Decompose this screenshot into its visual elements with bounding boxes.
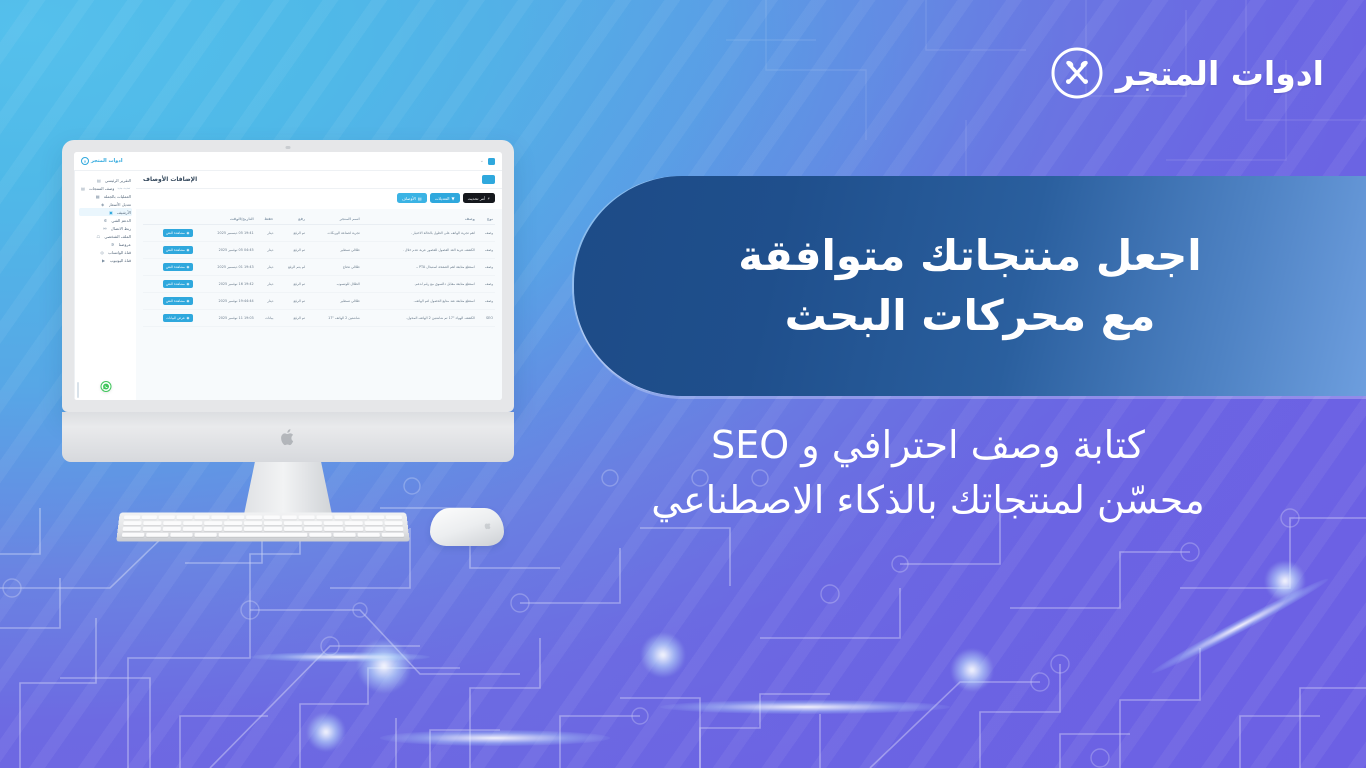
keyboard-key[interactable]: [219, 533, 308, 537]
keyboard-key[interactable]: [365, 527, 384, 531]
cell-description: استطع متابعة اهم الصفحة استبدال PTA ـ.: [362, 259, 477, 276]
keyboard-key[interactable]: [143, 527, 162, 531]
keyboard-key[interactable]: [304, 527, 322, 531]
link-icon: ⚯: [102, 225, 108, 231]
cell-store: طلالي تحتاج: [307, 259, 362, 276]
keyboard-key[interactable]: [246, 515, 262, 519]
keyboard-key[interactable]: [345, 527, 363, 531]
cell-description: الكشف عربة الغد الفصول للعصور عربة عدم خ…: [362, 242, 477, 259]
keyboard-key[interactable]: [299, 515, 315, 519]
keyboard-key[interactable]: [385, 527, 404, 531]
sidebar-item-label: تعديل الأسعار: [109, 202, 131, 207]
cell-action: ◉مشاهدة النص: [143, 225, 195, 242]
sidebar-item-label: ربط الاتصال: [111, 226, 131, 231]
action-button-update[interactable]: ⚡ أمر تحديث: [463, 193, 495, 203]
keyboard[interactable]: [116, 513, 410, 542]
sidebar-item-label: وصف المنتجات: [89, 186, 114, 191]
cell-date: 04:45 05 نوفمبر 2025: [195, 242, 256, 259]
keyboard-key[interactable]: [304, 521, 322, 525]
youtube-icon: ▶: [101, 257, 107, 263]
cell-type: وصف: [477, 293, 495, 310]
keyboard-key[interactable]: [204, 521, 222, 525]
cell-save: دينار: [256, 276, 276, 293]
dashboard-topbar: ⌄ ادوات المتجر ✕: [74, 152, 502, 171]
row-action-button[interactable]: ◉مشاهدة النص: [163, 297, 193, 305]
dashboard-brand-label: ادوات المتجر: [91, 158, 123, 164]
poster-canvas: ادوات المتجر اجعل منتجاتك متوافقة مع محر…: [0, 0, 1366, 768]
cell-date: 19:42 16 نوفمبر 2025: [195, 276, 256, 293]
keyboard-key[interactable]: [194, 515, 210, 519]
sidebar-item-10[interactable]: قناة اليوتيوب▶: [79, 256, 132, 264]
table-head: نوع وصف اسم المتجر رفع حفظ التاريخ/الوقت: [143, 214, 495, 225]
sidebar-item-2[interactable]: العمليات بالجملة▦: [79, 192, 132, 200]
sidebar-item-label: العمليات بالجملة: [104, 194, 131, 199]
row-action-label: عرض البيانات: [166, 316, 185, 320]
action-button-edits[interactable]: ▼ التعديلات: [430, 193, 460, 203]
table-row: وصفاهم تجربة الهاتف على الطول بالحالة ال…: [143, 225, 495, 242]
sidebar-item-3[interactable]: تعديل الأسعار◈: [79, 200, 132, 208]
cell-action: ◉عرض البيانات: [143, 310, 195, 327]
action-toolbar: ⚡ أمر تحديث ▼ التعديلات ▤ الأوصاف: [136, 189, 502, 209]
chevron-down-icon[interactable]: ⌄: [480, 158, 484, 164]
cell-description: الكشف الهواء "17 تم شاشتين 2 الهاتف المح…: [362, 310, 477, 327]
keyboard-key[interactable]: [244, 527, 262, 531]
keyboard-key[interactable]: [264, 515, 280, 519]
keyboard-key[interactable]: [163, 521, 181, 525]
action-button-descriptions-label: الأوصاف: [402, 196, 416, 201]
keyboard-key[interactable]: [194, 533, 216, 537]
whatsapp-float-button[interactable]: [100, 381, 111, 392]
cell-date: 19:43 01 ديسمبر 2025: [195, 259, 256, 276]
sidebar-item-8[interactable]: عروضنا✲: [79, 240, 132, 248]
glow-streak: [660, 700, 950, 714]
cell-action: ◉مشاهدة النص: [143, 293, 195, 310]
cell-upload-status: تم الرفع: [275, 225, 307, 242]
keyboard-key[interactable]: [211, 515, 227, 519]
file-icon: ▤: [96, 177, 102, 183]
filter-icon: ▼: [452, 196, 455, 201]
sidebar-item-label: عروضنا: [119, 242, 131, 247]
cell-save: دينار: [256, 225, 276, 242]
whatsapp-icon: [102, 383, 109, 390]
row-action-label: مشاهدة النص: [166, 248, 185, 252]
keyboard-key[interactable]: [351, 515, 367, 519]
eye-icon: ◉: [186, 265, 189, 269]
col-desc: وصف: [362, 214, 477, 225]
sidebar-item-label: الملف الشخصي: [104, 234, 131, 239]
sidebar-item-label: الدعم الفني: [111, 218, 131, 223]
keyboard-key[interactable]: [316, 515, 332, 519]
keyboard-key[interactable]: [284, 521, 302, 525]
glow-accent: [356, 638, 412, 694]
keyboard-key[interactable]: [124, 515, 140, 519]
keyboard-key[interactable]: [334, 515, 350, 519]
lock-icon[interactable]: [488, 158, 495, 165]
cell-upload-status: تم الرفع: [275, 276, 307, 293]
imac-mockup: ⌄ ادوات المتجر ✕ الإضافات الأوصاف: [62, 140, 514, 534]
col-action: [143, 214, 195, 225]
eye-icon: ◉: [186, 248, 189, 252]
glow-accent: [950, 648, 994, 692]
keyboard-key[interactable]: [309, 533, 331, 537]
webcam-icon: [286, 146, 291, 149]
cell-upload-status: تم الرفع: [275, 242, 307, 259]
products-table: نوع وصف اسم المتجر رفع حفظ التاريخ/الوقت: [143, 214, 495, 327]
dashboard-brand[interactable]: ادوات المتجر ✕: [81, 157, 123, 165]
keyboard-key[interactable]: [264, 521, 282, 525]
table-header-row: نوع وصف اسم المتجر رفع حفظ التاريخ/الوقت: [143, 214, 495, 225]
keyboard-key[interactable]: [369, 515, 385, 519]
sidebar-item-5[interactable]: الدعم الفني✲: [79, 216, 132, 224]
glow-streak: [380, 730, 610, 746]
cell-store: طلالي تسطير: [307, 242, 362, 259]
cell-save: بيانات: [256, 310, 276, 327]
dashboard-sidebar: التقرير الرئيسي▤تحديث جديدوصف المنتجات▤ا…: [74, 171, 136, 400]
cell-save: دينار: [256, 259, 276, 276]
row-action-label: مشاهدة النص: [166, 231, 185, 235]
col-type: نوع: [477, 214, 495, 225]
keyboard-key[interactable]: [382, 533, 405, 537]
gear-icon: ✲: [102, 217, 108, 223]
row-action-button[interactable]: ◉عرض البيانات: [163, 314, 193, 322]
keyboard-key[interactable]: [183, 527, 201, 531]
header-action-button[interactable]: [482, 175, 495, 184]
keyboard-key[interactable]: [357, 533, 379, 537]
tools-circle-icon: ✕: [81, 157, 89, 165]
keyboard-key[interactable]: [176, 515, 192, 519]
user-icon: ☖: [95, 233, 101, 239]
table-row: وصفاستطع متابعة عند متابع الحصول لتم اله…: [143, 293, 495, 310]
cell-upload-status: لم يتم الرفع: [275, 259, 307, 276]
cell-action: ◉مشاهدة النص: [143, 242, 195, 259]
keyboard-key[interactable]: [122, 533, 145, 537]
keyboard-key[interactable]: [184, 521, 202, 525]
cell-save: دينار: [256, 293, 276, 310]
keyboard-key[interactable]: [264, 527, 282, 531]
col-save: حفظ: [256, 214, 276, 225]
col-store: اسم المتجر: [307, 214, 362, 225]
keyboard-key[interactable]: [224, 527, 242, 531]
whatsapp-icon: ◎: [99, 249, 105, 255]
imac-chin: [62, 412, 514, 462]
keyboard-key[interactable]: [224, 521, 242, 525]
glow-accent: [306, 712, 346, 752]
keyboard-key[interactable]: [364, 521, 382, 525]
sidebar-item-label: الأرشيف: [117, 210, 131, 215]
imac-body: ⌄ ادوات المتجر ✕ الإضافات الأوصاف: [62, 140, 514, 412]
eye-icon: ◉: [186, 282, 189, 286]
action-button-update-label: أمر تحديث: [468, 196, 486, 201]
file-icon: ▤: [80, 185, 86, 191]
keyboard-key[interactable]: [324, 527, 342, 531]
cell-action: ◉مشاهدة النص: [143, 276, 195, 293]
boxes-icon: ▦: [95, 193, 101, 199]
keyboard-key[interactable]: [123, 527, 142, 531]
headline-line-2: مع محركات البحث: [785, 292, 1156, 340]
keyboard-key[interactable]: [333, 533, 355, 537]
cell-date: 19:41 05 ديسمبر 2025: [195, 225, 256, 242]
action-button-descriptions[interactable]: ▤ الأوصاف: [397, 193, 427, 203]
table-row: وصفاستطع متابعة اهم الصفحة استبدال PTA ـ…: [143, 259, 495, 276]
keyboard-key[interactable]: [324, 521, 342, 525]
cell-store: طلالي تسطير: [307, 293, 362, 310]
row-action-button[interactable]: ◉مشاهدة النص: [163, 246, 193, 254]
page-title: الإضافات الأوصاف: [143, 176, 197, 183]
cell-action: ◉مشاهدة النص: [143, 259, 195, 276]
brand-name: ادوات المتجر: [1116, 54, 1324, 93]
magic-mouse[interactable]: [430, 508, 504, 546]
keyboard-row: [123, 527, 404, 531]
action-button-edits-label: التعديلات: [435, 196, 450, 201]
keyboard-key[interactable]: [203, 527, 221, 531]
keyboard-key[interactable]: [159, 515, 175, 519]
sidebar-item-4[interactable]: الأرشيف▣: [79, 208, 132, 216]
cell-upload-status: تم الرفع: [275, 310, 307, 327]
col-date: التاريخ/الوقت: [195, 214, 256, 225]
apple-icon: [484, 521, 492, 530]
glow-accent: [640, 632, 686, 678]
sidebar-item-list: التقرير الرئيسي▤تحديث جديدوصف المنتجات▤ا…: [79, 176, 132, 264]
keyboard-key[interactable]: [143, 521, 161, 525]
brand-logo: ادوات المتجر: [1050, 46, 1324, 100]
keyboard-key[interactable]: [384, 521, 403, 525]
keyboard-key[interactable]: [344, 521, 362, 525]
table-row: SEOالكشف الهواء "17 تم شاشتين 2 الهاتف ا…: [143, 310, 495, 327]
keyboard-row: [124, 515, 402, 519]
row-action-button[interactable]: ◉مشاهدة النص: [163, 263, 193, 271]
row-action-button[interactable]: ◉مشاهدة النص: [163, 229, 193, 237]
row-action-button[interactable]: ◉مشاهدة النص: [163, 280, 193, 288]
eye-icon: ◉: [186, 231, 189, 235]
cell-store: الطلال للوتسوب: [307, 276, 362, 293]
eye-icon: ◉: [186, 316, 189, 320]
headline-banner: اجعل منتجاتك متوافقة مع محركات البحث: [574, 176, 1366, 396]
table-body: وصفاهم تجربة الهاتف على الطول بالحالة ال…: [143, 225, 495, 327]
keyboard-row: [123, 521, 403, 525]
sidebar-item-label: التقرير الرئيسي: [105, 178, 131, 183]
cell-save: دينار: [256, 242, 276, 259]
cell-store: شاشتين 2 الهاتف "17: [307, 310, 362, 327]
col-upload: رفع: [275, 214, 307, 225]
cell-type: SEO: [477, 310, 495, 327]
cell-upload-status: تم الرفع: [275, 293, 307, 310]
dashboard-app: ⌄ ادوات المتجر ✕ الإضافات الأوصاف: [74, 152, 502, 400]
keyboard-key[interactable]: [146, 533, 168, 537]
gear-icon: ✲: [110, 241, 116, 247]
keyboard-row: [122, 533, 404, 537]
keyboard-key[interactable]: [163, 527, 181, 531]
glow-streak: [250, 652, 430, 662]
keyboard-key[interactable]: [229, 515, 245, 519]
sidebar-item-0[interactable]: التقرير الرئيسي▤: [79, 176, 132, 184]
keyboard-key[interactable]: [170, 533, 192, 537]
cell-type: وصف: [477, 242, 495, 259]
sidebar-item-1[interactable]: تحديث جديدوصف المنتجات▤: [79, 184, 132, 192]
row-action-label: مشاهدة النص: [166, 282, 185, 286]
imac-screen: ⌄ ادوات المتجر ✕ الإضافات الأوصاف: [74, 152, 502, 400]
sidebar-item-6[interactable]: ربط الاتصال⚯: [79, 224, 132, 232]
cell-description: استطع متابعة مقابل دالسوق مع رقم لدعم.: [362, 276, 477, 293]
dashboard-main: الإضافات الأوصاف ⚡ أمر تحديث ▼ التعديلات: [136, 171, 502, 400]
subtitle-line-2: محسّن لمنتجاتك بالذكاء الاصطناعي: [520, 473, 1336, 528]
sidebar-scrollbar[interactable]: [77, 382, 79, 398]
keyboard-key[interactable]: [281, 515, 297, 519]
table-container: نوع وصف اسم المتجر رفع حفظ التاريخ/الوقت: [136, 209, 502, 400]
archive-icon: ▣: [108, 209, 114, 215]
sidebar-item-label: قناة الواتساب: [108, 250, 131, 255]
subtitle-line-1: كتابة وصف احترافي و SEO: [520, 418, 1336, 473]
eye-icon: ◉: [186, 299, 189, 303]
keyboard-rows: [122, 515, 404, 536]
sidebar-item-7[interactable]: الملف الشخصي☖: [79, 232, 132, 240]
headline-line-1: اجعل منتجاتك متوافقة: [738, 232, 1201, 280]
sidebar-item-badge: تحديث جديد: [117, 187, 130, 190]
file-icon: ▤: [418, 196, 422, 201]
keyboard-key[interactable]: [244, 521, 262, 525]
table-row: وصفاستطع متابعة مقابل دالسوق مع رقم لدعم…: [143, 276, 495, 293]
dashboard-body: الإضافات الأوصاف ⚡ أمر تحديث ▼ التعديلات: [74, 171, 502, 400]
cell-description: استطع متابعة عند متابع الحصول لتم الهاتف…: [362, 293, 477, 310]
cell-date: 19:03 11 نوفمبر 2025: [195, 310, 256, 327]
cell-date: 19:44:44 نوفمبر 2025: [195, 293, 256, 310]
sidebar-item-label: قناة اليوتيوب: [110, 258, 131, 263]
apple-icon: [280, 428, 296, 447]
keyboard-key[interactable]: [141, 515, 157, 519]
subtitle-block: كتابة وصف احترافي و SEO محسّن لمنتجاتك ب…: [520, 418, 1336, 528]
cell-type: وصف: [477, 259, 495, 276]
row-action-label: مشاهدة النص: [166, 265, 185, 269]
tag-icon: ◈: [100, 201, 106, 207]
row-action-label: مشاهدة النص: [166, 299, 185, 303]
tools-circle-icon: [1050, 46, 1104, 100]
table-row: وصفالكشف عربة الغد الفصول للعصور عربة عد…: [143, 242, 495, 259]
cell-description: اهم تجربة الهاتف على الطول بالحالة الاخت…: [362, 225, 477, 242]
page-header: الإضافات الأوصاف: [136, 171, 502, 189]
cell-type: وصف: [477, 225, 495, 242]
topbar-left-controls: ⌄: [480, 158, 495, 165]
bolt-icon: ⚡: [487, 196, 490, 201]
keyboard-key[interactable]: [284, 527, 302, 531]
keyboard-key[interactable]: [123, 521, 142, 525]
keyboard-key[interactable]: [386, 515, 402, 519]
cell-store: تجربة لصناعة الورـكات: [307, 225, 362, 242]
cell-type: وصف: [477, 276, 495, 293]
sidebar-item-9[interactable]: قناة الواتساب◎: [79, 248, 132, 256]
